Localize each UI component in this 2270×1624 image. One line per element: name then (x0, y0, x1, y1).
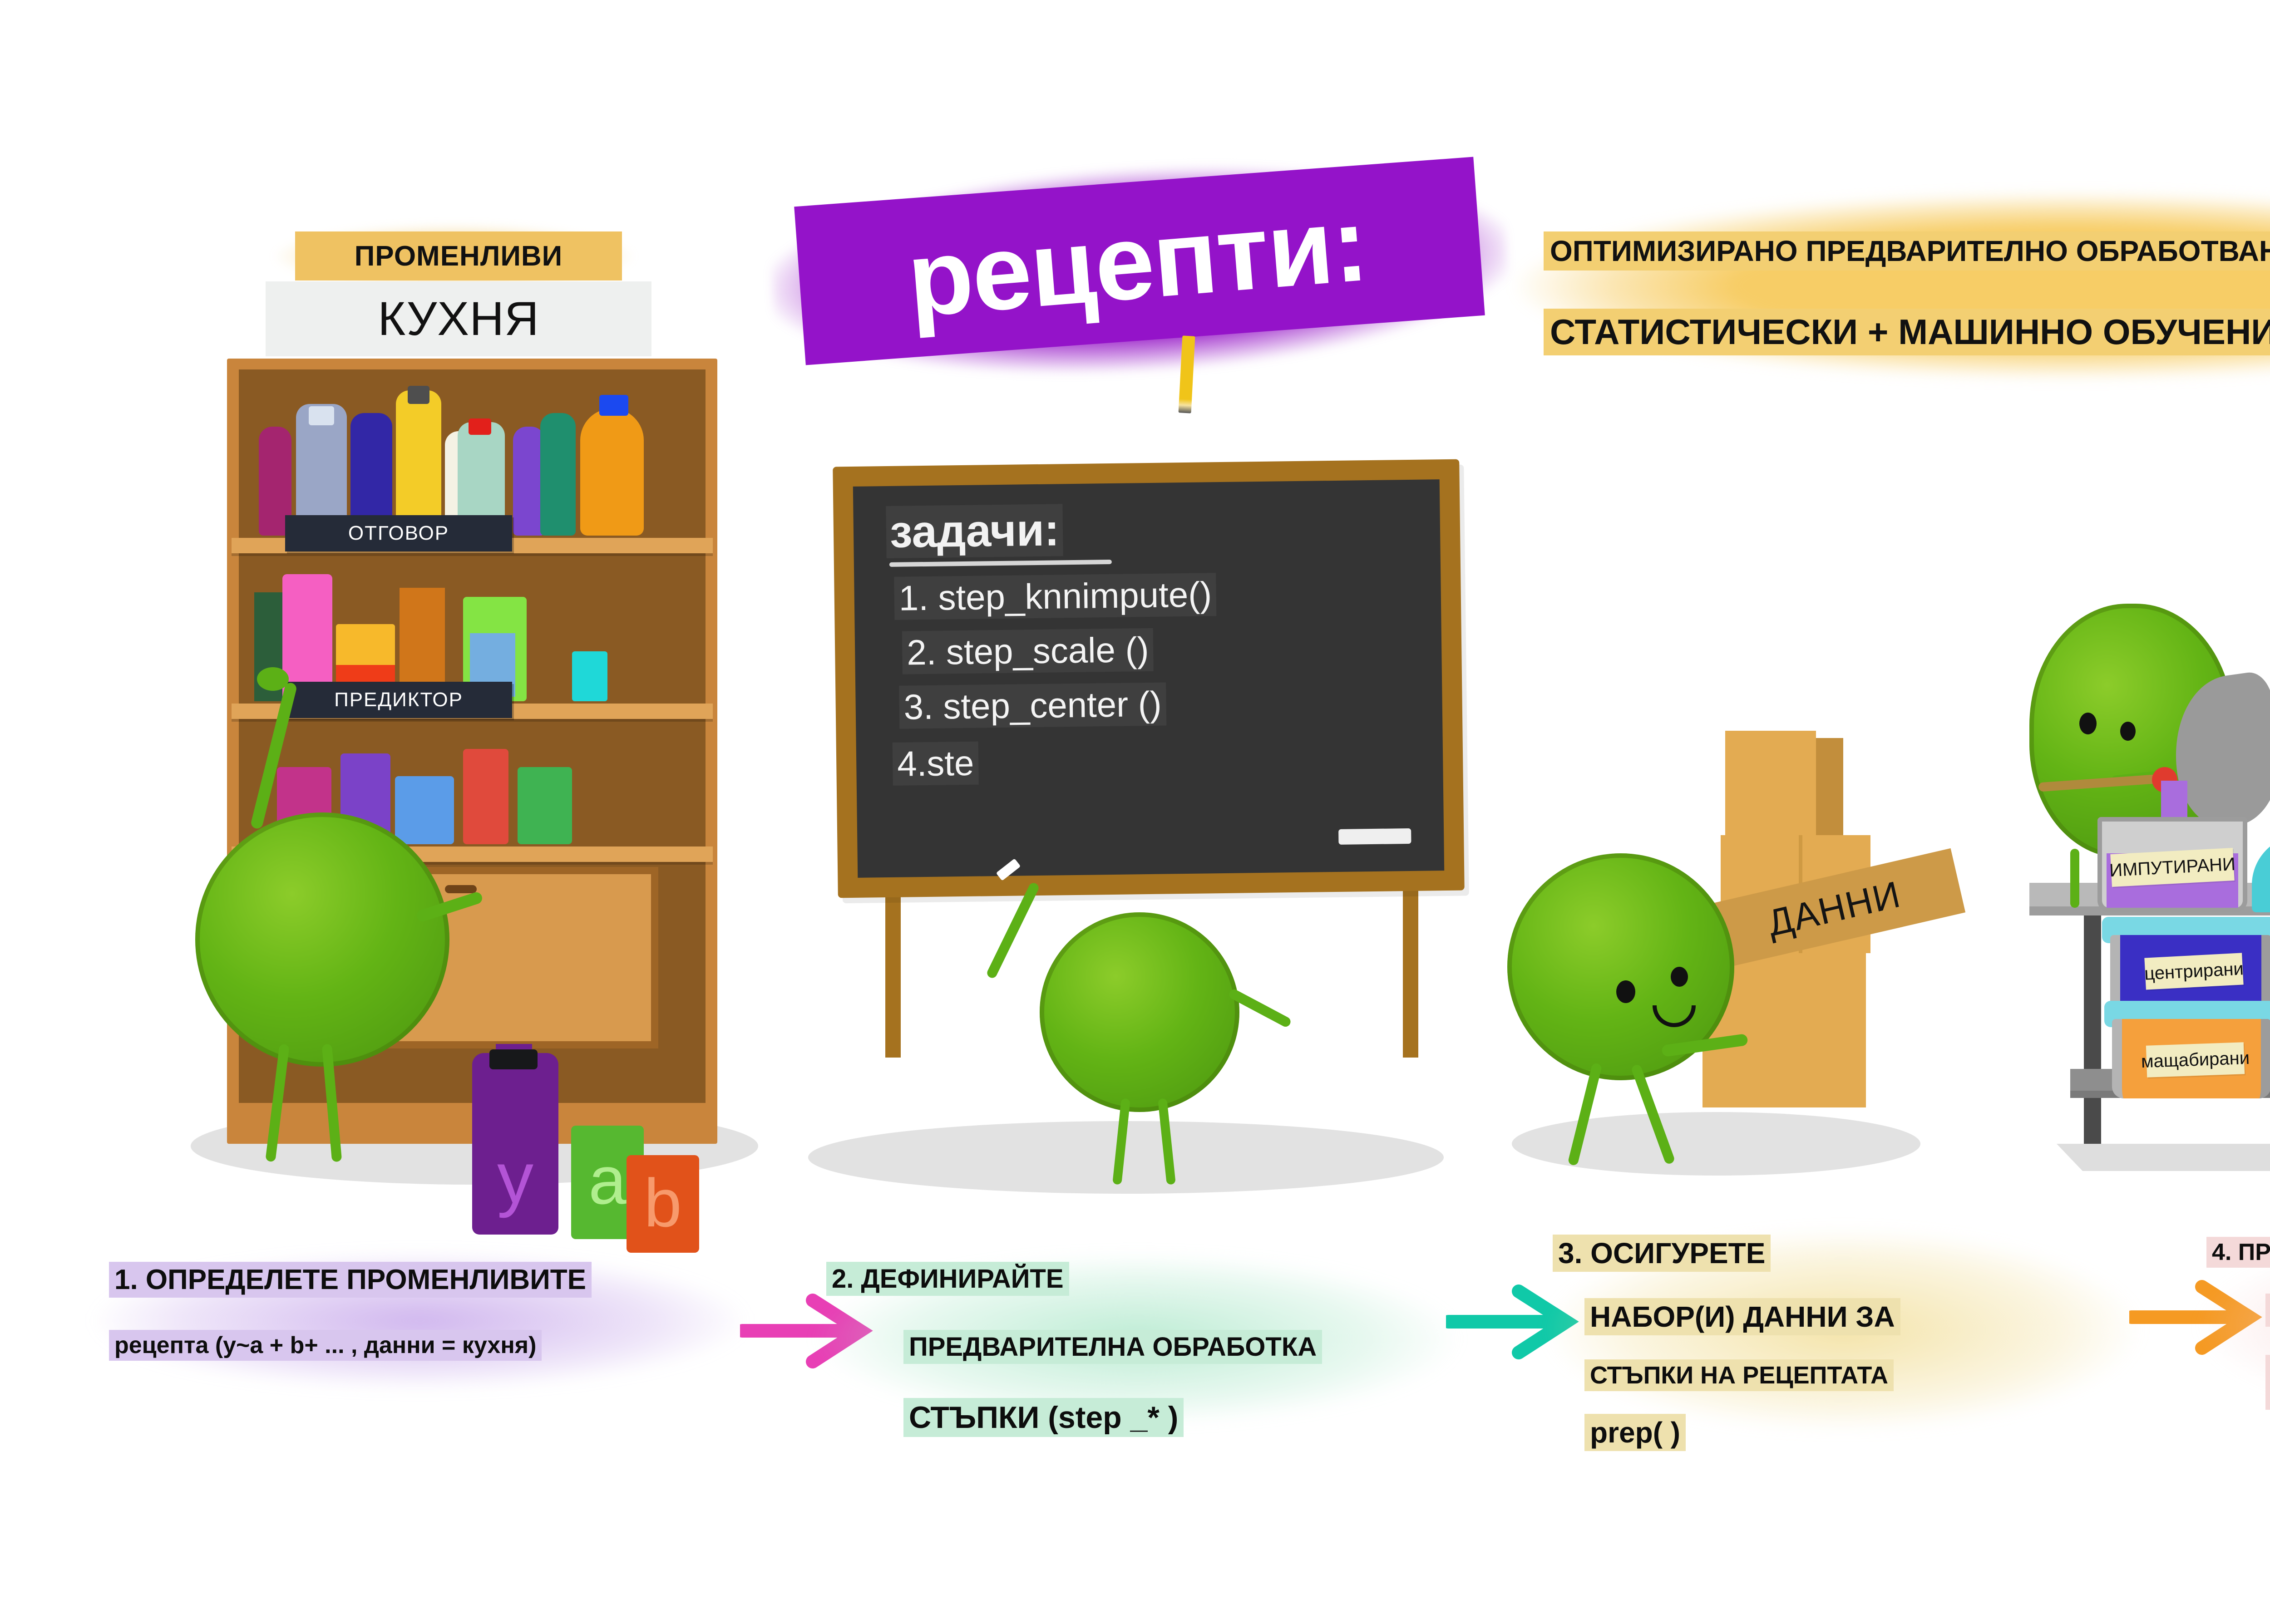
subtitle-line-2: СТАТИСТИЧЕСКИ + МАШИННО ОБУЧЕНИЕ МОДЕЛИ (1544, 309, 2270, 355)
chalkboard-leg (885, 885, 901, 1058)
shelf-bottles-top (254, 386, 690, 536)
bottle-cap (469, 418, 491, 435)
monster-eye-left (2079, 713, 2097, 734)
jar-y-cap (489, 1049, 538, 1069)
monster-hand (257, 667, 289, 691)
step-3-line-2: НАБОР(И) ДАННИ ЗА (1584, 1298, 1900, 1335)
subtitle-brush-stroke (1512, 182, 2270, 390)
variables-tag: ПРОМЕНЛИВИ (295, 231, 622, 281)
mixer-base (2252, 835, 2270, 912)
cupboard-handle[interactable] (445, 885, 477, 893)
can-item (395, 776, 454, 844)
monster-leg (2070, 849, 2079, 908)
bottle (540, 413, 576, 536)
shelf-label-predictor: ПРЕДИКТОР (285, 682, 512, 718)
kitchen-tag: КУХНЯ (266, 281, 651, 356)
step-1-line-1: 1. ОПРЕДЕЛЕТЕ ПРОМЕНЛИВИТЕ (109, 1262, 592, 1298)
container-scaled-label: мащабирани (2146, 1042, 2245, 1077)
shelf-items-middle (254, 565, 690, 701)
can-item (463, 749, 508, 844)
box-small-side (1816, 738, 1843, 835)
subtitle-line-1: ОПТИМИЗИРАНО ПРЕДВАРИТЕЛНО ОБРАБОТВАНЕ Н… (1544, 231, 2270, 271)
jar-y-label: y (472, 1144, 558, 1212)
step-4-line-2: ПРЕДВАРИТЕЛНА ОБРАБОТКА! (2265, 1294, 2270, 1327)
monster-eye-right (2120, 722, 2136, 741)
bottle-cap (309, 406, 334, 425)
monster-arm (986, 881, 1041, 979)
bottle (396, 390, 441, 536)
chalkboard-item-3: 3. step_center () (899, 683, 1166, 729)
step-3-line-1: 3. ОСИГУРЕТЕ (1553, 1235, 1771, 1272)
counter-leg (2084, 915, 2101, 1145)
jar-label-text: b (644, 1164, 681, 1242)
step-3-line-3: СТЪПКИ НА РЕЦЕПТАТА (1584, 1359, 1894, 1391)
step-2-line-1: 2. ДЕФИНИРАЙТЕ (826, 1262, 1069, 1296)
jar-label-text: y (497, 1136, 533, 1220)
monster-eye-right (1671, 967, 1688, 987)
can-item (518, 767, 572, 844)
shelf-label-response: ОТГОВОР (285, 515, 512, 551)
chalkboard-leg (1403, 885, 1418, 1058)
bottle-cap (408, 386, 429, 404)
box-small (1725, 731, 1816, 835)
step-4-line-1: 4. ПРИЛОЖЕТЕ (2206, 1237, 2270, 1268)
chalkboard-item-1: 1. step_knnimpute() (894, 573, 1216, 620)
jar-b-label: b (627, 1166, 699, 1239)
step-2-line-3: СТЪПКИ (step _* ) (903, 1398, 1184, 1437)
chalkboard: задачи: 1. step_knnimpute() 2. step_scal… (833, 459, 1465, 898)
chalkboard-item-4: 4.ste (893, 742, 979, 786)
step-2-line-2: ПРЕДВАРИТЕЛНА ОБРАБОТКА (903, 1330, 1322, 1364)
bottle-cap (599, 395, 628, 416)
monster-chalkboard (1040, 912, 1239, 1112)
eraser-icon[interactable] (1338, 828, 1411, 845)
monster-cupboard (195, 812, 449, 1067)
jar-label-text: a (588, 1141, 626, 1220)
bottle (580, 408, 644, 536)
container-imputed-label: ИМПУТИРАНИ (2110, 848, 2234, 887)
chalkboard-heading: задачи: (886, 504, 1063, 558)
chalkboard-surface: задачи: 1. step_knnimpute() 2. step_scal… (853, 479, 1444, 878)
chalkboard-heading-underline (889, 560, 1112, 567)
illustration-canvas: рецепти: ОПТИМИЗИРАНО ПРЕДВАРИТЕЛНО ОБРА… (0, 0, 2270, 1624)
step-3-line-4: prep( ) (1584, 1414, 1686, 1451)
can-item (572, 651, 607, 701)
chalkboard-item-2: 2. step_scale () (902, 628, 1154, 674)
monster-eye-left (1616, 980, 1635, 1003)
step-4-line-3: bake () (2265, 1355, 2270, 1410)
counter-floor-shadow (2057, 1144, 2270, 1171)
container-centered-label: центрирани (2144, 953, 2243, 989)
step-1-line-2: рецепта (y~a + b+ ... , данни = кухня) (109, 1330, 542, 1361)
